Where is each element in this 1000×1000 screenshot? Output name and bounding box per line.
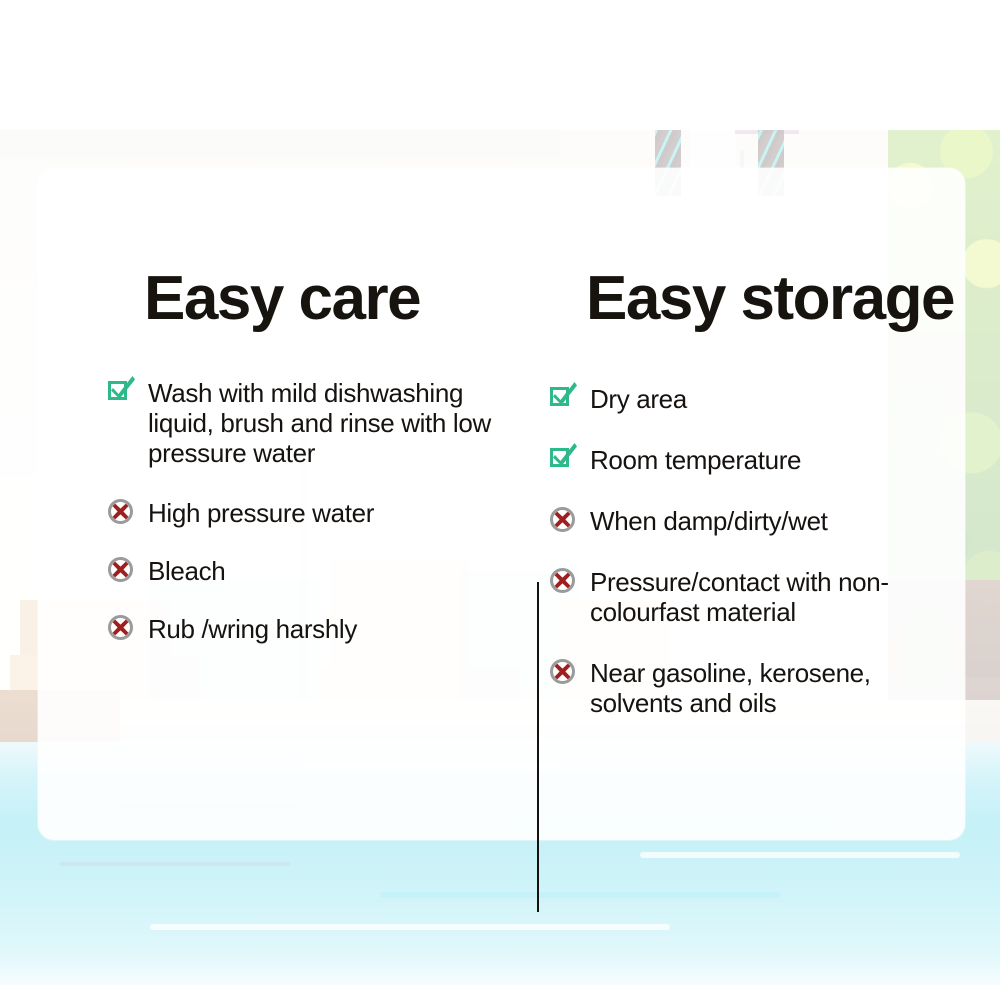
cross-icon-mark: [554, 511, 571, 528]
list-item: Wash with mild dishwashing liquid, brush…: [108, 378, 528, 468]
list-item-label: Bleach: [148, 556, 225, 586]
cross-icon-mark: [554, 663, 571, 680]
check-icon: [550, 384, 576, 410]
list-item-label: Room temperature: [590, 445, 801, 475]
cross-icon-mark: [112, 561, 129, 578]
check-icon: [550, 445, 576, 471]
cross-icon: [108, 498, 134, 524]
list-item-label: Wash with mild dishwashing liquid, brush…: [148, 378, 498, 468]
heading-easy-storage: Easy storage: [550, 268, 950, 330]
cross-icon: [550, 658, 576, 684]
info-card: Easy care Wash with mild dishwashing liq…: [38, 168, 965, 840]
cross-icon: [108, 556, 134, 582]
check-icon-tick: [551, 442, 579, 470]
column-easy-storage: Easy storage Dry area: [550, 268, 950, 749]
list-item: Near gasoline, kerosene, solvents and oi…: [550, 658, 950, 718]
check-icon: [108, 378, 134, 404]
list-item: Dry area: [550, 384, 950, 414]
list-item-label: Rub /wring harshly: [148, 614, 357, 644]
list-item-label: Dry area: [590, 384, 687, 414]
list-item-label: When damp/dirty/wet: [590, 506, 828, 536]
check-icon-tick: [551, 381, 579, 409]
water-ripple: [60, 862, 290, 866]
cross-icon-mark: [112, 619, 129, 636]
list-item: Rub /wring harshly: [108, 614, 528, 644]
photo-top-white-band: [0, 0, 1000, 130]
cross-icon: [108, 614, 134, 640]
water-ripple: [640, 852, 960, 858]
list-item-label: High pressure water: [148, 498, 374, 528]
column-easy-care: Easy care Wash with mild dishwashing liq…: [108, 268, 528, 672]
list-item-label: Near gasoline, kerosene, solvents and oi…: [590, 658, 910, 718]
list-item: Pressure/contact with non-colourfast mat…: [550, 567, 950, 627]
list-easy-storage: Dry area Room temperature: [550, 384, 950, 718]
cross-icon: [550, 567, 576, 593]
cross-icon-mark: [112, 503, 129, 520]
cross-icon: [550, 506, 576, 532]
water-ripple: [380, 892, 780, 898]
column-divider: [537, 582, 539, 912]
list-item: High pressure water: [108, 498, 528, 528]
water-ripple: [150, 924, 670, 930]
list-item: Bleach: [108, 556, 528, 586]
list-item-label: Pressure/contact with non-colourfast mat…: [590, 567, 910, 627]
heading-easy-care: Easy care: [108, 268, 528, 330]
list-easy-care: Wash with mild dishwashing liquid, brush…: [108, 378, 528, 644]
infographic-canvas: Easy care Wash with mild dishwashing liq…: [0, 0, 1000, 1000]
check-icon-tick: [109, 375, 137, 403]
cross-icon-mark: [554, 572, 571, 589]
list-item: When damp/dirty/wet: [550, 506, 950, 536]
list-item: Room temperature: [550, 445, 950, 475]
